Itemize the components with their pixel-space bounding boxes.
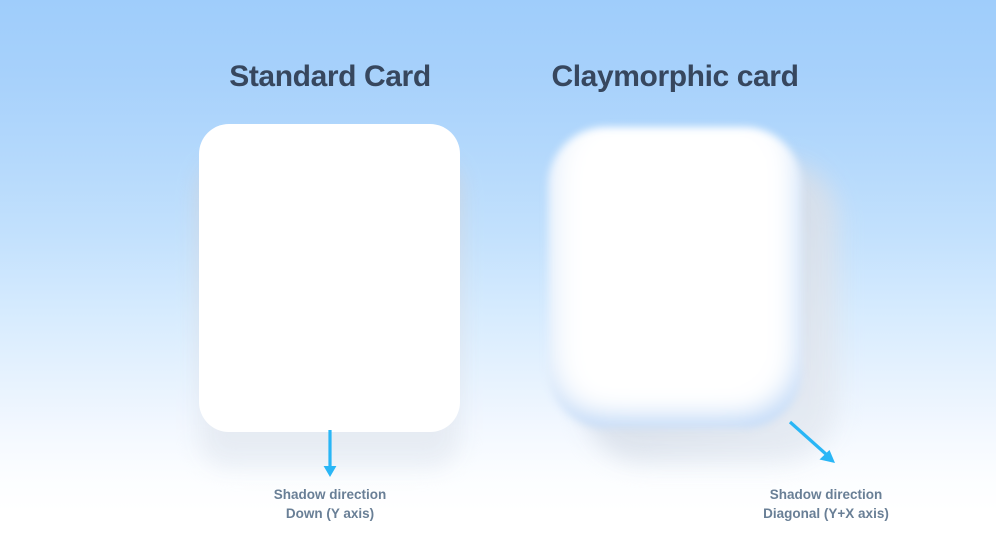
claymorphic-card-group [548,127,802,428]
standard-card-heading: Standard Card [130,60,530,94]
caption-line-2: Down (Y axis) [180,504,480,523]
standard-card[interactable] [199,124,460,432]
claymorphic-card-caption: Shadow direction Diagonal (Y+X axis) [676,485,976,523]
standard-card-group [199,124,460,432]
comparison-stage: Standard Card Claymorphic card Shadow di… [0,0,996,538]
caption-line-1: Shadow direction [180,485,480,504]
caption-line-1: Shadow direction [676,485,976,504]
claymorphic-card-heading: Claymorphic card [475,60,875,94]
arrow-down-icon [306,428,354,480]
standard-card-caption: Shadow direction Down (Y axis) [180,485,480,523]
caption-line-2: Diagonal (Y+X axis) [676,504,976,523]
arrow-diagonal-icon [788,420,844,472]
claymorphic-card[interactable] [548,127,802,428]
